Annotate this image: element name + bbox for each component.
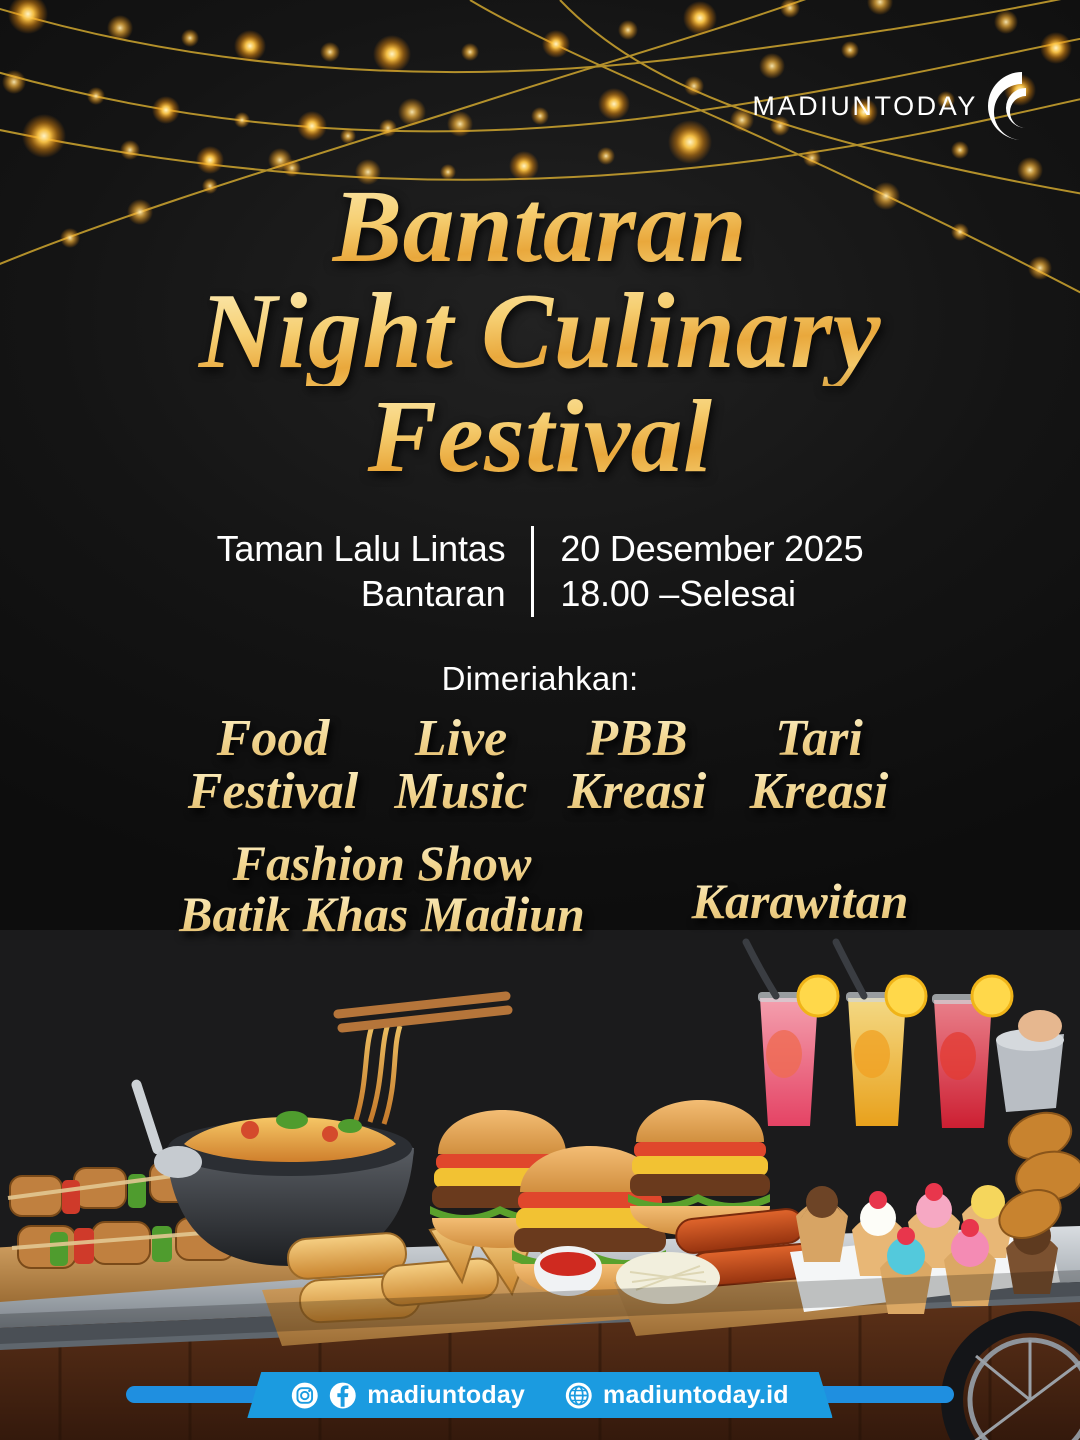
instagram-icon[interactable] <box>291 1382 318 1409</box>
facebook-icon[interactable] <box>329 1382 356 1409</box>
attractions-row-1: Food Festival Live Music PBB Kreasi Tari… <box>0 712 1080 818</box>
poster-root: MADIUNTODAY Bantaran Night Culinary Fest… <box>0 0 1080 1440</box>
attraction-line-1: Food <box>170 712 376 765</box>
attraction-line-1: Live <box>376 712 546 765</box>
attraction-live-music: Live Music <box>376 712 546 818</box>
social-handles: madiuntoday madiuntoday.id <box>247 1372 832 1418</box>
poster-title: Bantaran Night Culinary Festival <box>0 176 1080 489</box>
title-line-3: Festival <box>0 386 1080 489</box>
website-url[interactable]: madiuntoday.id <box>603 1381 789 1410</box>
crescent-swirl-icon <box>964 62 1044 150</box>
footer-social-bar: madiuntoday madiuntoday.id <box>0 1372 1080 1418</box>
venue-line-2: Bantaran <box>217 571 506 616</box>
datetime-block: 20 Desember 2025 18.00 –Selesai <box>534 526 863 617</box>
instagram-handle[interactable]: madiuntoday <box>367 1381 525 1410</box>
attraction-line-1: Fashion Show <box>152 838 612 889</box>
title-line-2: Night Culinary <box>0 279 1080 386</box>
venue-block: Taman Lalu Lintas Bantaran <box>217 526 532 617</box>
attraction-food-festival: Food Festival <box>170 712 376 818</box>
logo-wordmark: MADIUNTODAY <box>752 91 978 122</box>
event-time: 18.00 –Selesai <box>560 571 863 616</box>
venue-line-1: Taman Lalu Lintas <box>217 526 506 571</box>
attraction-line-2: Music <box>376 765 546 818</box>
attraction-line-1: Tari <box>728 712 910 765</box>
food-spread-photo <box>0 930 1080 1440</box>
attractions-heading: Dimeriahkan: <box>0 660 1080 698</box>
attraction-fashion-show: Fashion Show Batik Khas Madiun <box>152 838 612 940</box>
event-date: 20 Desember 2025 <box>560 526 863 571</box>
attraction-karawitan: Karawitan <box>660 876 940 927</box>
attraction-line-2: Festival <box>170 765 376 818</box>
event-details: Taman Lalu Lintas Bantaran 20 Desember 2… <box>0 526 1080 617</box>
attraction-line-1: PBB <box>546 712 728 765</box>
globe-icon[interactable] <box>565 1382 592 1409</box>
attraction-line-1: Karawitan <box>660 876 940 927</box>
attraction-line-2: Batik Khas Madiun <box>152 889 612 940</box>
attraction-line-2: Kreasi <box>546 765 728 818</box>
title-line-1: Bantaran <box>0 176 1080 279</box>
attraction-pbb-kreasi: PBB Kreasi <box>546 712 728 818</box>
attraction-tari-kreasi: Tari Kreasi <box>728 712 910 818</box>
attraction-line-2: Kreasi <box>728 765 910 818</box>
brand-logo: MADIUNTODAY <box>752 62 1044 150</box>
